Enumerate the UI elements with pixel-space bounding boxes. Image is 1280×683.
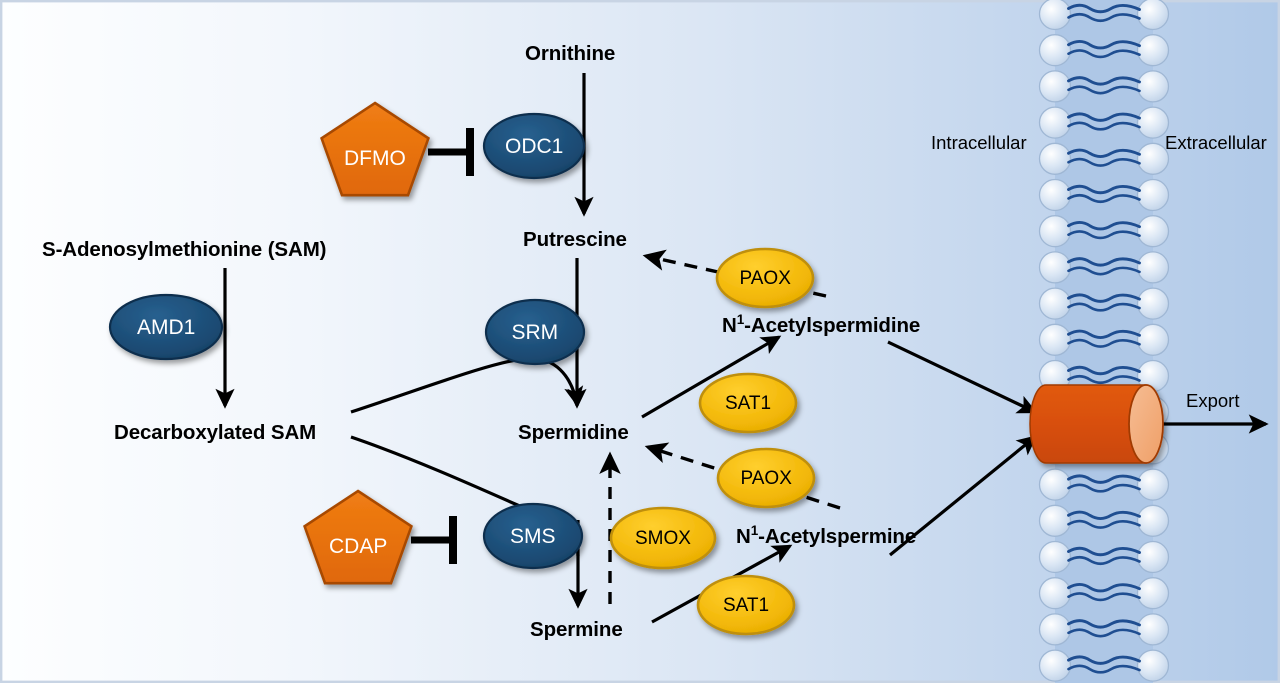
- lipid-head-inner: [1040, 324, 1071, 355]
- enzyme-shape: [700, 374, 796, 432]
- enzyme-sms[interactable]: [484, 504, 582, 568]
- enzyme-shape: [486, 300, 584, 364]
- pathway-diagram: Ornithine Putrescine S-Adenosylmethionin…: [0, 0, 1280, 683]
- enzyme-shape: [484, 114, 584, 178]
- enzyme-sat1-upper[interactable]: [700, 374, 796, 432]
- lipid-head-outer: [1138, 650, 1169, 681]
- enzyme-smox[interactable]: [611, 508, 715, 568]
- lipid-head-inner: [1040, 0, 1071, 30]
- lipid-head-outer: [1138, 252, 1169, 283]
- enzyme-shape: [718, 449, 814, 507]
- lipid-head-inner: [1040, 107, 1071, 138]
- enzyme-sat1-lower[interactable]: [698, 576, 794, 634]
- lipid-head-outer: [1138, 0, 1169, 30]
- enzyme-shape: [717, 249, 813, 307]
- enzyme-srm[interactable]: [486, 300, 584, 364]
- lipid-head-outer: [1138, 71, 1169, 102]
- enzyme-odc1[interactable]: [484, 114, 584, 178]
- lipid-head-outer: [1138, 143, 1169, 174]
- lipid-head-inner: [1040, 35, 1071, 66]
- enzyme-paox-upper[interactable]: [717, 249, 813, 307]
- enzyme-paox-lower[interactable]: [718, 449, 814, 507]
- lipid-head-inner: [1040, 505, 1071, 536]
- lipid-head-outer: [1138, 505, 1169, 536]
- lipid-head-outer: [1138, 324, 1169, 355]
- enzyme-shape: [110, 295, 222, 359]
- lipid-head-outer: [1138, 578, 1169, 609]
- diagram-canvas: [0, 0, 1280, 683]
- plasma-membrane: [1040, 0, 1169, 683]
- lipid-head-inner: [1040, 542, 1071, 573]
- lipid-head-outer: [1138, 35, 1169, 66]
- lipid-head-inner: [1040, 180, 1071, 211]
- lipid-head-inner: [1040, 288, 1071, 319]
- lipid-head-outer: [1138, 469, 1169, 500]
- enzyme-amd1[interactable]: [110, 295, 222, 359]
- enzyme-shape: [611, 508, 715, 568]
- enzyme-shape: [484, 504, 582, 568]
- lipid-head-inner: [1040, 650, 1071, 681]
- lipid-head-outer: [1138, 216, 1169, 247]
- lipid-head-outer: [1138, 614, 1169, 645]
- polyamine-transporter[interactable]: [1030, 385, 1163, 463]
- lipid-head-inner: [1040, 578, 1071, 609]
- transporter-cap: [1129, 385, 1163, 463]
- lipid-head-outer: [1138, 107, 1169, 138]
- enzyme-shape: [698, 576, 794, 634]
- lipid-head-inner: [1040, 614, 1071, 645]
- lipid-head-inner: [1040, 469, 1071, 500]
- lipid-head-outer: [1138, 542, 1169, 573]
- lipid-head-inner: [1040, 143, 1071, 174]
- lipid-head-inner: [1040, 252, 1071, 283]
- lipid-head-inner: [1040, 216, 1071, 247]
- lipid-head-inner: [1040, 71, 1071, 102]
- lipid-head-outer: [1138, 180, 1169, 211]
- lipid-head-outer: [1138, 288, 1169, 319]
